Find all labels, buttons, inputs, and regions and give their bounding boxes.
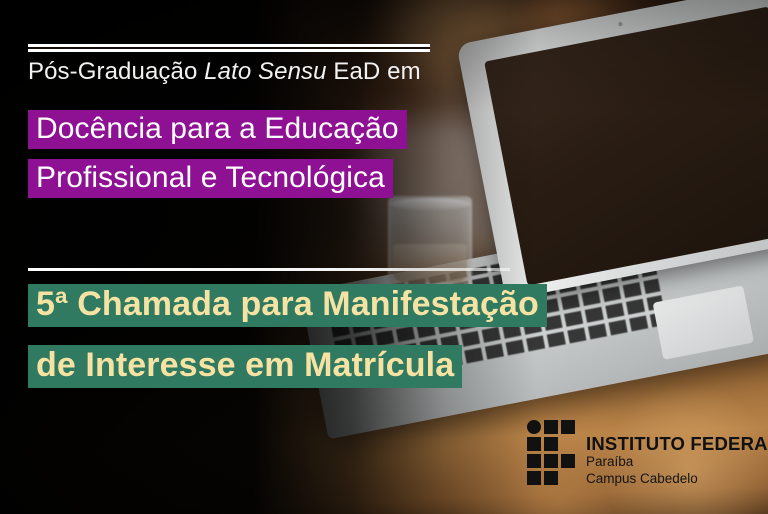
announcement-line-2: de Interesse em Matrícula (28, 345, 462, 388)
top-divider (28, 44, 430, 52)
logo-state: Paraíba (586, 454, 768, 470)
logo-mark-cell-sq (544, 420, 558, 434)
logo-mark-cell-sq (561, 420, 575, 434)
poster-content: Pós-Graduação Lato Sensu EaD em Docência… (0, 0, 768, 514)
logo-mark-cell-sq (544, 437, 558, 451)
kicker-text-before: Pós-Graduação (28, 58, 204, 85)
logo-mark-cell-sq (561, 454, 575, 468)
instituto-federal-logo: INSTITUTO FEDERAL Paraíba Campus Cabedel… (527, 420, 768, 487)
logo-mark-cell-empty (561, 471, 575, 485)
instituto-federal-mark-icon (527, 420, 575, 485)
logo-mark-cell-dot (527, 420, 541, 434)
logo-mark-cell-sq (527, 471, 541, 485)
logo-title: INSTITUTO FEDERAL (586, 434, 768, 454)
logo-mark-cell-empty (561, 437, 575, 451)
logo-mark-cell-sq (544, 454, 558, 468)
kicker-text-after: EaD em (327, 58, 421, 85)
logo-mark-cell-sq (527, 437, 541, 451)
course-title-line-1: Docência para a Educação (28, 110, 407, 149)
poster: Pós-Graduação Lato Sensu EaD em Docência… (0, 0, 768, 514)
course-kicker: Pós-Graduação Lato Sensu EaD em (28, 58, 421, 86)
logo-text-block: INSTITUTO FEDERAL Paraíba Campus Cabedel… (586, 420, 768, 487)
logo-mark-cell-sq (527, 454, 541, 468)
course-title-line-2: Profissional e Tecnológica (28, 159, 393, 198)
logo-mark-cell-sq (544, 471, 558, 485)
logo-campus: Campus Cabedelo (586, 471, 768, 487)
kicker-text-italic: Lato Sensu (204, 58, 326, 85)
middle-divider (28, 268, 510, 271)
announcement-line-1: 5ª Chamada para Manifestação (28, 284, 547, 327)
